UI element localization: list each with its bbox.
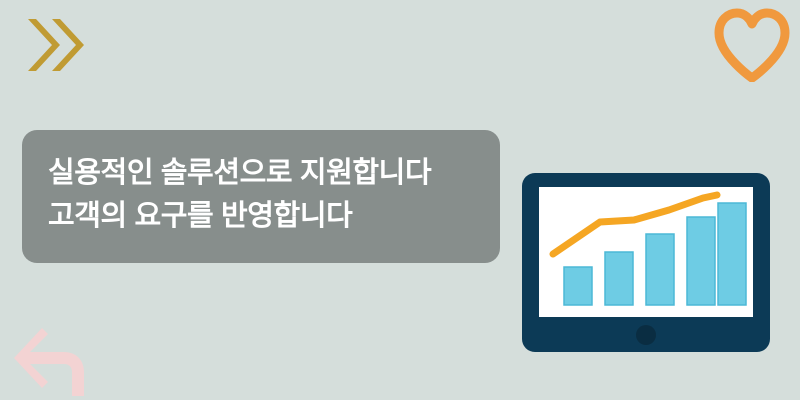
bar-4 [687,217,715,305]
double-chevron-right-icon [26,17,90,73]
bar-3 [646,234,674,305]
headline-line-1: 실용적인 솔루션으로 지원합니다 [48,152,474,195]
tablet-home-button[interactable] [636,325,656,345]
poster-canvas: 실용적인 솔루션으로 지원합니다 고객의 요구를 반영합니다 [0,0,800,400]
heart-outline-icon [713,8,791,82]
bar-2 [605,252,633,305]
tablet-screen [539,187,753,317]
tablet-device-illustration [522,173,770,352]
reply-arrow-icon [8,318,94,400]
headline-line-2: 고객의 요구를 반영합니다 [48,195,474,238]
growth-bar-chart [539,187,753,317]
bar-5 [718,203,746,305]
chart-bars [564,203,746,305]
bar-1 [564,267,592,305]
chart-accessible-title [0,0,1,1]
headline-panel: 실용적인 솔루션으로 지원합니다 고객의 요구를 반영합니다 [22,130,500,263]
